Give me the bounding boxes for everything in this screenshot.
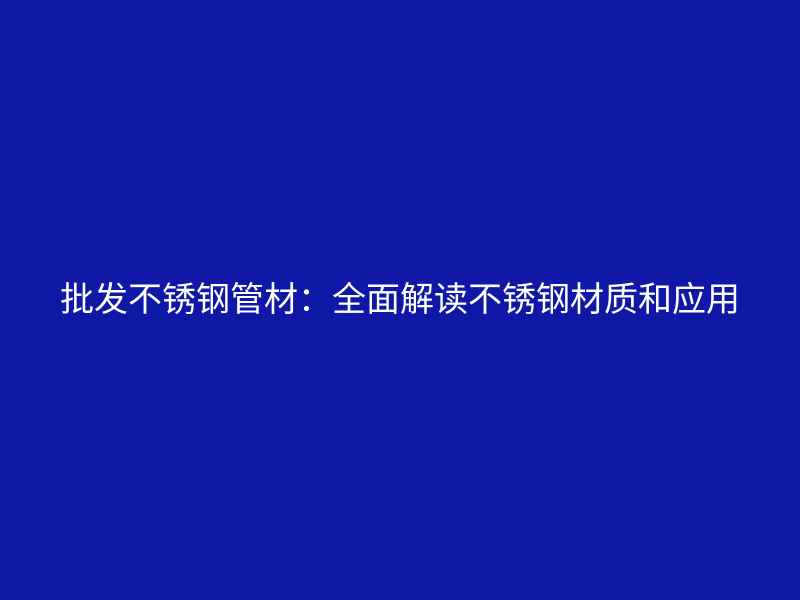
banner-title: 批发不锈钢管材：全面解读不锈钢材质和应用 [60, 283, 740, 319]
banner-content: 批发不锈钢管材：全面解读不锈钢材质和应用 [0, 283, 800, 319]
banner-canvas: 批发不锈钢管材：全面解读不锈钢材质和应用 [0, 0, 800, 600]
